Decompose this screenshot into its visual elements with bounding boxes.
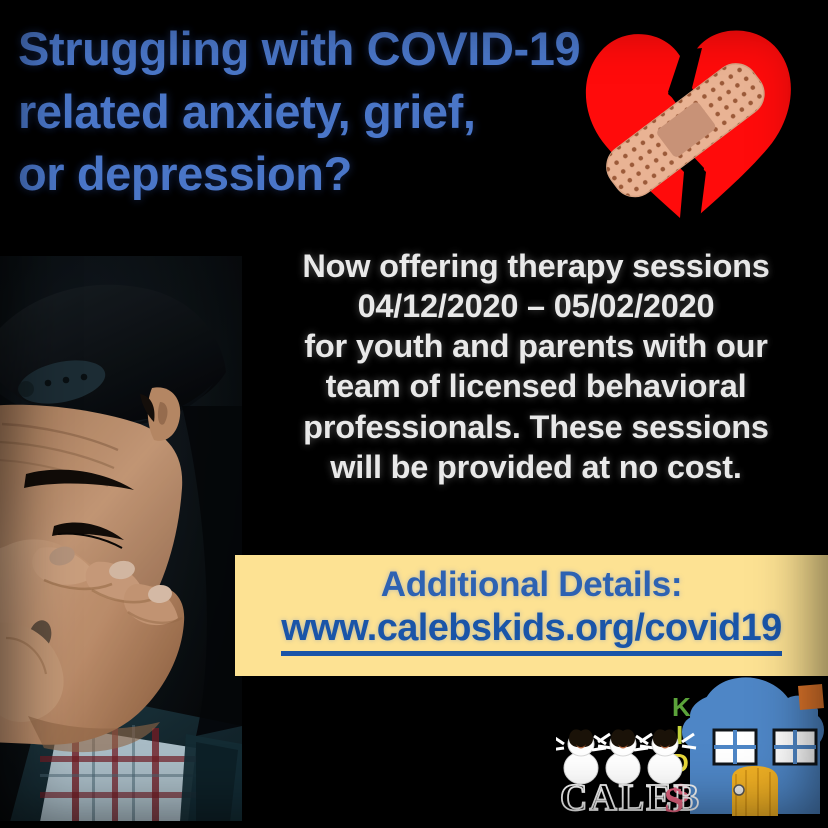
headline-line-1: Struggling with COVID-19 [18,18,708,81]
body-line-6: will be provided at no cost. [244,447,828,487]
headline-line-3: or depression? [18,143,708,206]
body-line-4: team of licensed behavioral [244,366,828,406]
body-paragraph: Now offering therapy sessions 04/12/2020… [244,246,828,487]
door [732,766,778,816]
headline-line-2: related anxiety, grief, [18,81,708,144]
kids-letter-k: K [672,692,691,722]
chimney [798,684,824,710]
website-link[interactable]: www.calebskids.org/covid19 [281,607,781,657]
body-line-5: professionals. These sessions [244,407,828,447]
additional-details-panel: Additional Details: www.calebskids.org/c… [235,555,828,676]
window-left [714,730,756,764]
man-covering-face-photo [0,256,242,822]
calebs-kids-logo[interactable]: K I D S [556,674,828,822]
child-figures [556,729,696,784]
additional-details-title: Additional Details: [235,563,828,607]
poster-canvas: Struggling with COVID-19 related anxiety… [0,0,828,828]
window-right [774,730,816,764]
body-line-2: 04/12/2020 – 05/02/2020 [244,286,828,326]
page-title: Struggling with COVID-19 related anxiety… [18,18,708,206]
body-line-1: Now offering therapy sessions [244,246,828,286]
logo-wordmark-s: S [664,780,684,820]
bottom-letterbox-bar [0,821,828,828]
body-line-3: for youth and parents with our [244,326,828,366]
